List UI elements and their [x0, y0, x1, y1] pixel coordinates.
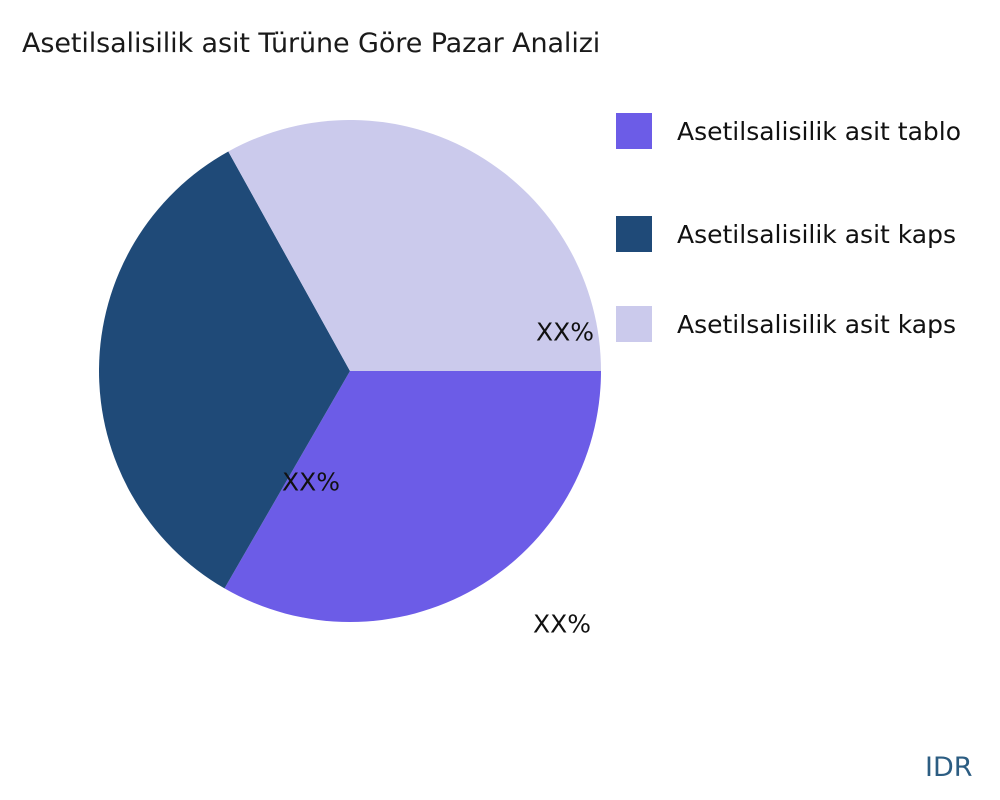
legend-item-2[interactable]: Asetilsalisilik asit kaps — [616, 306, 956, 342]
page-title: Asetilsalisilik asit Türüne Göre Pazar A… — [22, 28, 600, 59]
pie-chart-svg — [99, 120, 601, 622]
legend-swatch-1 — [616, 216, 652, 252]
legend-item-1[interactable]: Asetilsalisilik asit kaps — [616, 216, 956, 252]
legend-label-1: Asetilsalisilik asit kaps — [677, 220, 956, 249]
legend-item-0[interactable]: Asetilsalisilik asit tablo — [616, 113, 961, 149]
legend-label-2: Asetilsalisilik asit kaps — [677, 310, 956, 339]
legend: Asetilsalisilik asit tablo Asetilsalisil… — [616, 113, 1000, 373]
currency-watermark: IDR — [925, 752, 973, 783]
legend-label-0: Asetilsalisilik asit tablo — [677, 117, 961, 146]
legend-swatch-2 — [616, 306, 652, 342]
pie-chart: XX%XX%XX% — [99, 120, 601, 622]
chart-canvas: Asetilsalisilik asit Türüne Göre Pazar A… — [0, 0, 1000, 800]
legend-swatch-0 — [616, 113, 652, 149]
